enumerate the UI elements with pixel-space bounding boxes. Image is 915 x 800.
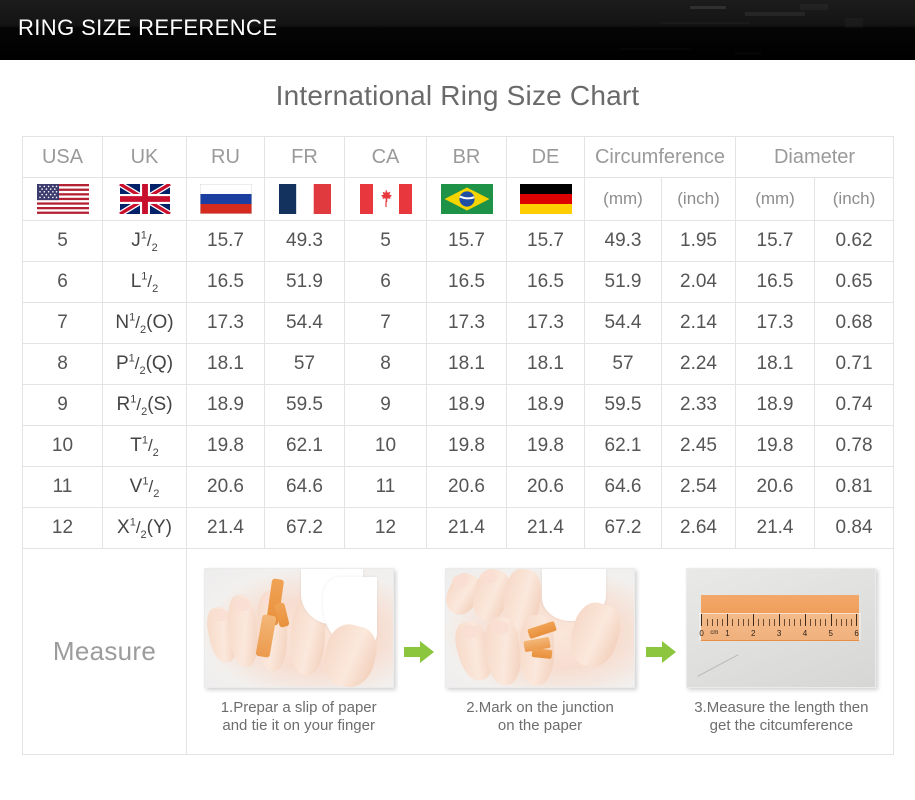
cell-fr: 51.9 [265, 262, 345, 303]
step-3-line1: 3.Measure the length then [679, 699, 884, 717]
cell-ru: 16.5 [187, 262, 265, 303]
measure-step-2: 2.Mark on the junction on the paper [434, 568, 645, 736]
ruler-major-tick [753, 614, 754, 626]
flag-cell-usa [23, 178, 103, 221]
flag-uk-icon [119, 184, 171, 214]
cell-uk: X1/2(Y) [103, 508, 187, 549]
ruler-minor-tick [815, 619, 816, 626]
cell-ru: 15.7 [187, 221, 265, 262]
cell-dia-in: 0.74 [815, 385, 894, 426]
ruler-minor-tick [758, 619, 759, 626]
cell-circ-in: 2.54 [662, 467, 736, 508]
flag-cell-fr [265, 178, 345, 221]
banner-title: RING SIZE REFERENCE [18, 15, 277, 41]
uk-suffix: (Y) [147, 517, 172, 538]
measure-label: Measure [53, 636, 156, 666]
cell-fr: 67.2 [265, 508, 345, 549]
cell-ru: 17.3 [187, 303, 265, 344]
cell-usa: 10 [23, 426, 103, 467]
uk-suffix: (O) [146, 312, 173, 333]
cell-circ-in: 2.64 [662, 508, 736, 549]
cell-dia-in: 0.78 [815, 426, 894, 467]
header-br: BR [427, 137, 507, 178]
cell-br: 20.6 [427, 467, 507, 508]
step-3-line2: get the citcumference [679, 717, 884, 735]
cell-dia-in: 0.81 [815, 467, 894, 508]
cell-uk: V1/2 [103, 467, 187, 508]
cell-dia-mm: 16.5 [736, 262, 815, 303]
measure-step-3: 0123456cm 3.Measure the length then get … [676, 568, 887, 736]
cell-circ-mm: 54.4 [585, 303, 662, 344]
cell-ca: 6 [345, 262, 427, 303]
cell-circ-in: 2.04 [662, 262, 736, 303]
measure-steps-cell: 1.Prepar a slip of paper and tie it on y… [187, 549, 894, 755]
ruler-label: 0 [699, 629, 703, 638]
cell-ru: 20.6 [187, 467, 265, 508]
ruler-minor-tick [810, 619, 811, 626]
uk-denominator: 2 [152, 283, 158, 295]
cell-dia-mm: 18.9 [736, 385, 815, 426]
step-2-line2: on the paper [438, 717, 643, 735]
cell-de: 17.3 [507, 303, 585, 344]
cell-br: 18.9 [427, 385, 507, 426]
uk-denominator: 2 [153, 488, 159, 500]
cell-circ-mm: 57 [585, 344, 662, 385]
cell-usa: 11 [23, 467, 103, 508]
flag-france-icon [279, 184, 331, 214]
cell-dia-mm: 17.3 [736, 303, 815, 344]
step-1-line2: and tie it on your finger [196, 717, 401, 735]
cell-fr: 49.3 [265, 221, 345, 262]
ruler-minor-tick [825, 619, 826, 626]
ruler-minor-tick [774, 619, 775, 626]
cell-uk: R1/2(S) [103, 385, 187, 426]
banner-texture-speck [660, 22, 750, 24]
flag-usa-icon [37, 184, 89, 214]
uk-suffix: (S) [147, 394, 172, 415]
cell-ca: 11 [345, 467, 427, 508]
header-de: DE [507, 137, 585, 178]
ruler-minor-tick [820, 619, 821, 626]
table-header-flags: (mm) (inch) (mm) (inch) [23, 178, 894, 221]
ruler-measuring-strip-photo: 0123456cm [686, 568, 876, 688]
cell-ca: 8 [345, 344, 427, 385]
ruler-minor-tick [712, 619, 713, 626]
cell-br: 21.4 [427, 508, 507, 549]
cell-fr: 62.1 [265, 426, 345, 467]
header-uk: UK [103, 137, 187, 178]
header-ca: CA [345, 137, 427, 178]
cell-dia-mm: 15.7 [736, 221, 815, 262]
ruler-minor-tick [743, 619, 744, 626]
cell-dia-in: 0.62 [815, 221, 894, 262]
ruler-minor-tick [794, 619, 795, 626]
table-header-countries: USA UK RU FR CA BR DE Circumference Diam… [23, 137, 894, 178]
cell-dia-in: 0.84 [815, 508, 894, 549]
header-ru: RU [187, 137, 265, 178]
cell-de: 15.7 [507, 221, 585, 262]
header-fr: FR [265, 137, 345, 178]
cell-circ-in: 2.14 [662, 303, 736, 344]
arrow-right-icon-1 [404, 641, 434, 663]
cell-circ-mm: 51.9 [585, 262, 662, 303]
header-usa: USA [23, 137, 103, 178]
table-row: 12X1/2(Y)21.467.21221.421.467.22.6421.40… [23, 508, 894, 549]
cell-ru: 21.4 [187, 508, 265, 549]
cell-uk: P1/2(Q) [103, 344, 187, 385]
ruler-minor-tick [717, 619, 718, 626]
cell-usa: 8 [23, 344, 103, 385]
cell-uk: J1/2 [103, 221, 187, 262]
ruler-minor-tick [851, 619, 852, 626]
cell-circ-mm: 64.6 [585, 467, 662, 508]
unit-circumference-inch: (inch) [662, 178, 736, 221]
cell-dia-mm: 21.4 [736, 508, 815, 549]
table-row: 5J1/215.749.3515.715.749.31.9515.70.62 [23, 221, 894, 262]
unit-circumference-mm: (mm) [585, 178, 662, 221]
ruler-minor-tick [748, 619, 749, 626]
marking-paper-junction-photo [445, 568, 635, 688]
cell-dia-mm: 20.6 [736, 467, 815, 508]
hand-with-paper-strip-photo [204, 568, 394, 688]
cell-uk: L1/2 [103, 262, 187, 303]
ring-size-table-wrapper: USA UK RU FR CA BR DE Circumference Diam… [22, 136, 893, 755]
banner-texture-speck [745, 12, 805, 16]
cell-ru: 19.8 [187, 426, 265, 467]
cell-de: 21.4 [507, 508, 585, 549]
ruler-major-tick [701, 614, 702, 626]
ruler-major-tick [831, 614, 832, 626]
ruler-major-tick [779, 614, 780, 626]
cell-usa: 9 [23, 385, 103, 426]
ruler-minor-tick [769, 619, 770, 626]
ruler-label: 4 [803, 629, 807, 638]
flag-cell-uk [103, 178, 187, 221]
cell-br: 18.1 [427, 344, 507, 385]
ruler-label: 6 [854, 629, 858, 638]
cell-fr: 64.6 [265, 467, 345, 508]
ruler-label: 5 [829, 629, 833, 638]
table-row: 6L1/216.551.9616.516.551.92.0416.50.65 [23, 262, 894, 303]
measure-steps: 1.Prepar a slip of paper and tie it on y… [187, 549, 893, 754]
uk-denominator: 2 [152, 242, 158, 254]
ruler-minor-tick [789, 619, 790, 626]
measure-step-1: 1.Prepar a slip of paper and tie it on y… [193, 568, 404, 736]
table-row: 9R1/2(S)18.959.5918.918.959.52.3318.90.7… [23, 385, 894, 426]
cell-usa: 6 [23, 262, 103, 303]
flag-russia-icon [200, 184, 252, 214]
cell-dia-mm: 19.8 [736, 426, 815, 467]
cell-fr: 59.5 [265, 385, 345, 426]
cell-de: 20.6 [507, 467, 585, 508]
banner-texture-speck [845, 18, 863, 28]
top-banner: RING SIZE REFERENCE [0, 0, 915, 60]
uk-letter: L [131, 271, 142, 292]
cell-dia-in: 0.71 [815, 344, 894, 385]
ruler-minor-tick [707, 619, 708, 626]
cell-br: 17.3 [427, 303, 507, 344]
flag-brazil-icon [441, 184, 493, 214]
ruler-unit-label: cm [710, 630, 718, 636]
cell-dia-mm: 18.1 [736, 344, 815, 385]
uk-letter: P [116, 353, 129, 374]
uk-denominator: 2 [153, 447, 159, 459]
table-row: 8P1/2(Q)18.157818.118.1572.2418.10.71 [23, 344, 894, 385]
unit-diameter-inch: (inch) [815, 178, 894, 221]
cell-de: 18.1 [507, 344, 585, 385]
ruler-major-tick [856, 614, 857, 626]
cell-ca: 10 [345, 426, 427, 467]
ruler-label: 2 [751, 629, 755, 638]
cell-circ-in: 2.45 [662, 426, 736, 467]
banner-texture-speck [690, 6, 726, 9]
step-2-caption: 2.Mark on the junction on the paper [438, 699, 643, 736]
cell-circ-in: 2.24 [662, 344, 736, 385]
table-row: 7N1/2(O)17.354.4717.317.354.42.1417.30.6… [23, 303, 894, 344]
banner-texture-speck [735, 52, 761, 55]
uk-letter: J [131, 230, 141, 251]
ruler-minor-tick [800, 619, 801, 626]
cell-br: 15.7 [427, 221, 507, 262]
cell-ca: 5 [345, 221, 427, 262]
cell-usa: 12 [23, 508, 103, 549]
flag-cell-de [507, 178, 585, 221]
cell-circ-in: 1.95 [662, 221, 736, 262]
uk-letter: N [115, 312, 129, 333]
uk-letter: V [130, 476, 143, 497]
cell-ca: 9 [345, 385, 427, 426]
flag-cell-br [427, 178, 507, 221]
ruler-major-tick [805, 614, 806, 626]
cell-ru: 18.9 [187, 385, 265, 426]
cell-uk: T1/2 [103, 426, 187, 467]
cell-ca: 12 [345, 508, 427, 549]
arrow-right-icon-2 [646, 641, 676, 663]
uk-letter: T [130, 435, 142, 456]
step-1-caption: 1.Prepar a slip of paper and tie it on y… [196, 699, 401, 736]
banner-texture-speck [620, 48, 690, 50]
cell-ca: 7 [345, 303, 427, 344]
ruler-minor-tick [738, 619, 739, 626]
cell-fr: 54.4 [265, 303, 345, 344]
uk-letter: R [116, 394, 130, 415]
unit-diameter-mm: (mm) [736, 178, 815, 221]
uk-letter: X [117, 517, 130, 538]
flag-germany-icon [520, 184, 572, 214]
cell-dia-in: 0.68 [815, 303, 894, 344]
ruler-minor-tick [722, 619, 723, 626]
cell-circ-mm: 62.1 [585, 426, 662, 467]
cell-br: 16.5 [427, 262, 507, 303]
cell-de: 19.8 [507, 426, 585, 467]
measure-label-cell: Measure [23, 549, 187, 755]
flag-cell-ru [187, 178, 265, 221]
flag-cell-ca [345, 178, 427, 221]
ruler-label: 1 [725, 629, 729, 638]
cell-usa: 5 [23, 221, 103, 262]
cell-ru: 18.1 [187, 344, 265, 385]
step-3-caption: 3.Measure the length then get the citcum… [679, 699, 884, 736]
cell-circ-mm: 59.5 [585, 385, 662, 426]
cell-de: 18.9 [507, 385, 585, 426]
ruler-minor-tick [836, 619, 837, 626]
flag-canada-icon [360, 184, 412, 214]
table-row: 10T1/219.862.11019.819.862.12.4519.80.78 [23, 426, 894, 467]
cell-br: 19.8 [427, 426, 507, 467]
cell-uk: N1/2(O) [103, 303, 187, 344]
ruler-major-tick [727, 614, 728, 626]
table-row: 11V1/220.664.61120.620.664.62.5420.60.81 [23, 467, 894, 508]
measure-row: Measure [23, 549, 894, 755]
ruler-minor-tick [841, 619, 842, 626]
cell-circ-in: 2.33 [662, 385, 736, 426]
cell-dia-in: 0.65 [815, 262, 894, 303]
header-diameter: Diameter [736, 137, 894, 178]
banner-texture-speck [800, 4, 828, 10]
ruler-minor-tick [732, 619, 733, 626]
page-title: International Ring Size Chart [0, 80, 915, 112]
ruler-minor-tick [763, 619, 764, 626]
header-circumference: Circumference [585, 137, 736, 178]
ruler-minor-tick [784, 619, 785, 626]
step-1-line1: 1.Prepar a slip of paper [196, 699, 401, 717]
cell-circ-mm: 67.2 [585, 508, 662, 549]
cell-fr: 57 [265, 344, 345, 385]
cell-de: 16.5 [507, 262, 585, 303]
cell-usa: 7 [23, 303, 103, 344]
step-2-line1: 2.Mark on the junction [438, 699, 643, 717]
uk-suffix: (Q) [146, 353, 173, 374]
ring-size-table: USA UK RU FR CA BR DE Circumference Diam… [22, 136, 894, 755]
ruler-minor-tick [846, 619, 847, 626]
cell-circ-mm: 49.3 [585, 221, 662, 262]
ruler-label: 3 [777, 629, 781, 638]
